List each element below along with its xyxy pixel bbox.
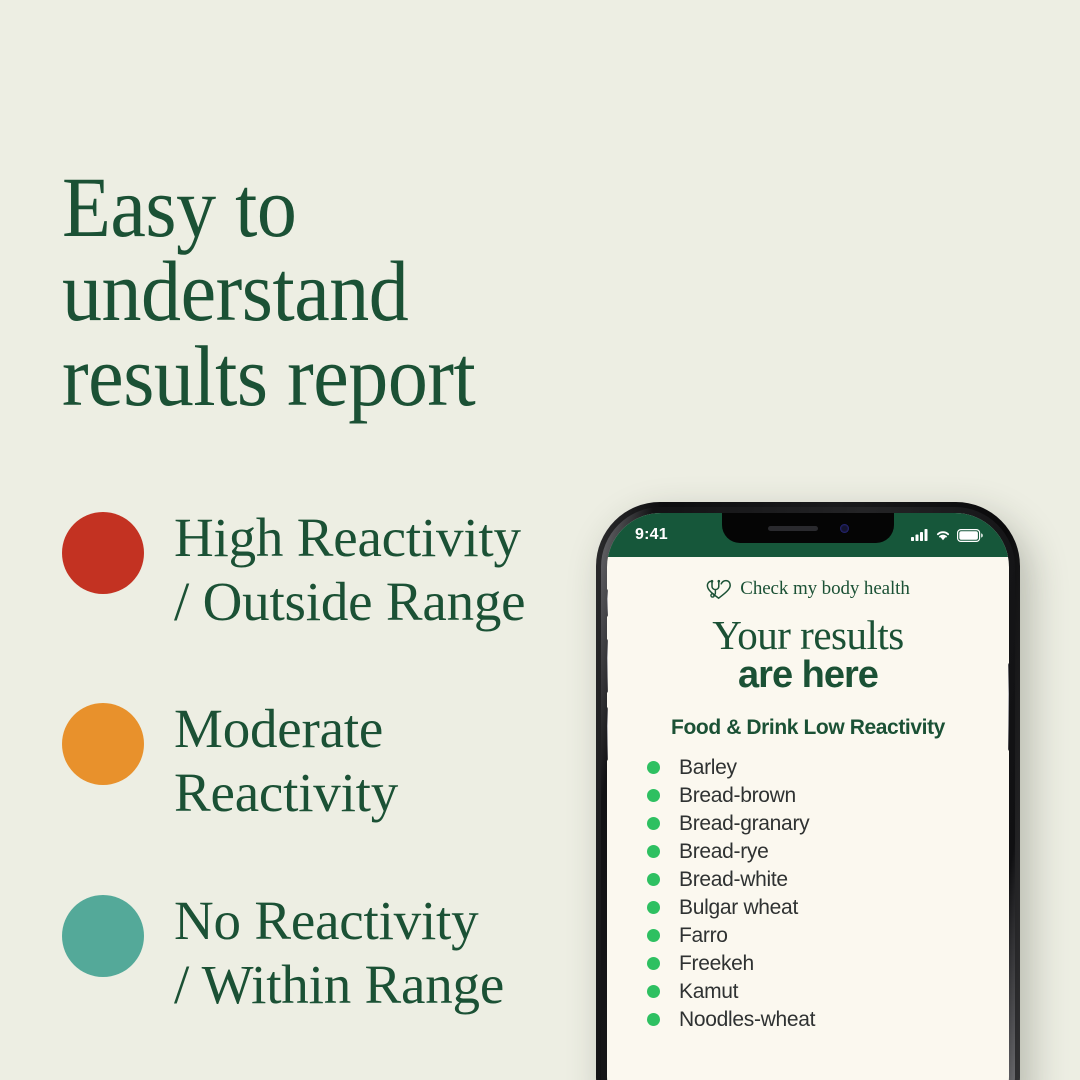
food-item-label: Bread-white: [679, 868, 788, 892]
list-item[interactable]: Kamut: [647, 978, 983, 1006]
reactivity-bullet-icon: [647, 873, 660, 886]
food-item-label: Bread-granary: [679, 812, 809, 836]
results-title-line2: are here: [633, 656, 983, 696]
results-title-line1: Your results: [633, 615, 983, 656]
reactivity-bullet-icon: [647, 985, 660, 998]
wifi-icon: [935, 529, 951, 541]
legend-item-no-reactivity: No Reactivity / Within Range: [62, 889, 640, 1017]
food-item-label: Bulgar wheat: [679, 896, 798, 920]
list-item[interactable]: Bread-rye: [647, 838, 983, 866]
list-item[interactable]: Bread-brown: [647, 782, 983, 810]
volume-down-button[interactable]: [607, 707, 608, 761]
reactivity-legend: High Reactivity / Outside Range Moderate…: [62, 506, 640, 1017]
app-brand-header: Check my body health: [633, 577, 983, 601]
list-item[interactable]: Freekeh: [647, 950, 983, 978]
food-item-label: Bread-rye: [679, 840, 769, 864]
phone-bezel: 9:41: [601, 507, 1015, 1080]
app-content: Check my body health Your results are he…: [607, 557, 1009, 1034]
reactivity-bullet-icon: [647, 789, 660, 802]
reactivity-bullet-icon: [647, 761, 660, 774]
food-item-label: Kamut: [679, 980, 738, 1004]
reactivity-bullet-icon: [647, 845, 660, 858]
status-bar-clock: 9:41: [635, 526, 668, 544]
legend-label-no-reactivity: No Reactivity / Within Range: [174, 889, 504, 1017]
list-item[interactable]: Bread-white: [647, 866, 983, 894]
results-title: Your results are here: [633, 615, 983, 696]
list-item[interactable]: Barley: [647, 754, 983, 782]
reactivity-bullet-icon: [647, 1013, 660, 1026]
status-bar-icons: [911, 529, 983, 542]
phone-screen: 9:41: [607, 513, 1009, 1080]
food-item-label: Farro: [679, 924, 728, 948]
no-reactivity-dot: [62, 895, 144, 977]
food-item-label: Freekeh: [679, 952, 754, 976]
phone-mockup: 9:41: [596, 502, 1020, 1080]
cellular-signal-icon: [911, 529, 929, 541]
list-item[interactable]: Bulgar wheat: [647, 894, 983, 922]
food-results-list: BarleyBread-brownBread-granaryBread-ryeB…: [633, 754, 983, 1034]
battery-icon: [957, 529, 983, 542]
earpiece-speaker-icon: [768, 526, 818, 531]
reactivity-bullet-icon: [647, 817, 660, 830]
promo-panel: Easy to understand results report High R…: [0, 0, 640, 1080]
legend-label-moderate-reactivity: Moderate Reactivity: [174, 697, 398, 825]
front-camera-icon: [840, 524, 849, 533]
phone-notch: [722, 513, 894, 543]
heart-stethoscope-icon: [706, 577, 732, 601]
section-heading-food-drink-low-reactivity: Food & Drink Low Reactivity: [633, 716, 983, 740]
moderate-reactivity-dot: [62, 703, 144, 785]
reactivity-bullet-icon: [647, 929, 660, 942]
silence-switch[interactable]: [607, 589, 608, 617]
food-item-label: Noodles-wheat: [679, 1008, 815, 1032]
volume-up-button[interactable]: [607, 639, 608, 693]
power-button[interactable]: [1008, 663, 1009, 751]
list-item[interactable]: Noodles-wheat: [647, 1006, 983, 1034]
list-item[interactable]: Farro: [647, 922, 983, 950]
food-item-label: Bread-brown: [679, 784, 796, 808]
legend-label-high-reactivity: High Reactivity / Outside Range: [174, 506, 525, 634]
food-item-label: Barley: [679, 756, 737, 780]
legend-item-high-reactivity: High Reactivity / Outside Range: [62, 506, 640, 634]
page-title: Easy to understand results report: [62, 165, 600, 418]
high-reactivity-dot: [62, 512, 144, 594]
app-brand-name: Check my body health: [740, 578, 910, 600]
reactivity-bullet-icon: [647, 957, 660, 970]
legend-item-moderate-reactivity: Moderate Reactivity: [62, 697, 640, 825]
list-item[interactable]: Bread-granary: [647, 810, 983, 838]
reactivity-bullet-icon: [647, 901, 660, 914]
